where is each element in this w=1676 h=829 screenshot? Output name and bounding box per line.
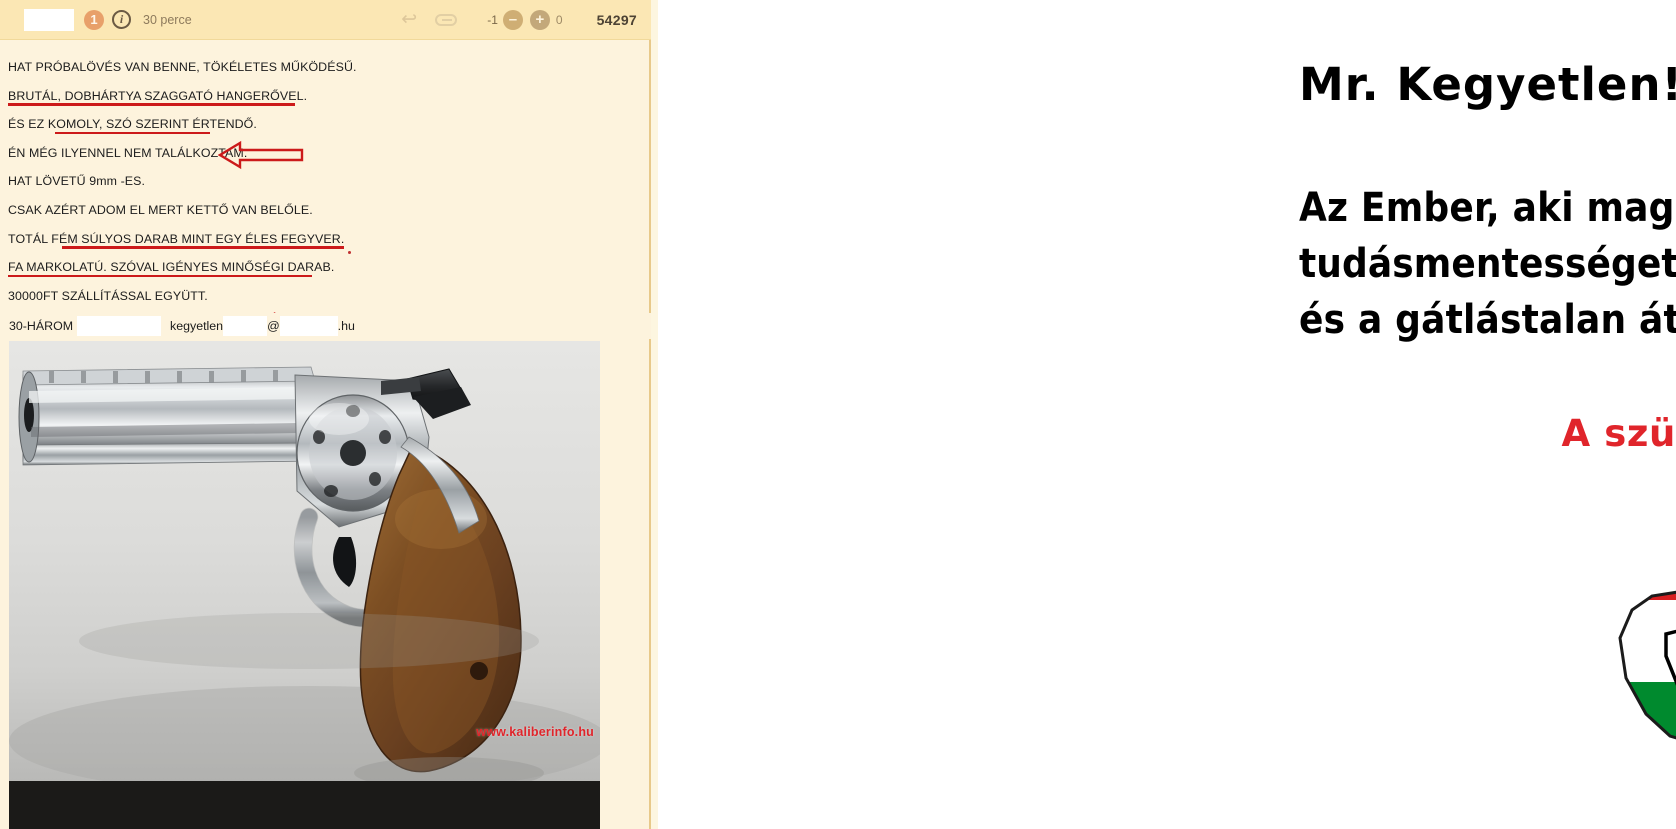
ad-line: HAT LÖVETŰ 9mm -ES. <box>8 174 649 203</box>
meme-body: Az Ember, aki magában ötvözi a totális t… <box>1299 180 1676 348</box>
photo-watermark: www.kaliberinfo.hu <box>476 725 594 739</box>
ad-line: BRUTÁL, DOBHÁRTYA SZAGGATÓ HANGERŐVEL. <box>8 89 649 118</box>
ad-line-text: FA MARKOLATÚ. SZÓVAL IGÉNYES MINŐSÉGI DA… <box>8 260 334 274</box>
phone-prefix: 30-HÁROM <box>0 319 73 333</box>
vote-down-button[interactable]: – <box>503 10 523 30</box>
redacted-phone-box <box>77 316 161 336</box>
hungary-map-ballot-svg <box>1548 488 1676 778</box>
ad-line-text: 30000FT SZÁLLÍTÁSSAL EGYÜTT. <box>8 289 208 303</box>
email-local-part: kegyetlen <box>161 319 223 333</box>
ad-text-body: HAT PRÓBALÖVÉS VAN BENNE, TÖKÉLETES MŰKÖ… <box>0 40 649 330</box>
meme-title: Mr. Kegyetlen!!! <box>1299 58 1676 111</box>
ad-card: 1 i 30 perce ↩ -1 – + 0 54297 HAT PRÓBAL… <box>0 0 651 829</box>
meme-body-line-2: tudásmentességet a zseniális marketinges… <box>1299 236 1676 292</box>
contact-row: 30-HÁROM kegyetlen @ .hu <box>0 313 651 339</box>
ad-line-text: HAT LÖVETŰ 9mm -ES. <box>8 174 145 188</box>
ad-line: HAT PRÓBALÖVÉS VAN BENNE, TÖKÉLETES MŰKÖ… <box>8 60 649 89</box>
at-symbol: @ <box>267 319 280 333</box>
meme-body-line-1: Az Ember, aki magában ötvözi a totális <box>1299 180 1676 236</box>
ad-line: CSAK AZÉRT ADOM EL MERT KETTŐ VAN BELŐLE… <box>8 203 649 232</box>
hungary-map-ballot-logo <box>1548 488 1676 778</box>
ad-line: FA MARKOLATÚ. SZÓVAL IGÉNYES MINŐSÉGI DA… <box>8 260 649 289</box>
ad-line-text: ÉN MÉG ILYENNEL NEM TALÁLKOZTAM. <box>8 146 247 160</box>
link-icon[interactable] <box>435 14 457 26</box>
photo-bottom-strip <box>9 781 600 829</box>
vote-down-count: -1 <box>487 13 498 27</box>
page-root: 1 i 30 perce ↩ -1 – + 0 54297 HAT PRÓBAL… <box>0 0 1676 829</box>
ad-line-text: HAT PRÓBALÖVÉS VAN BENNE, TÖKÉLETES MŰKÖ… <box>8 60 357 74</box>
red-dot-mark <box>348 251 351 254</box>
meme-panel: Mr. Kegyetlen!!! Az Ember, aki magában ö… <box>658 0 1676 829</box>
revolver-photo-svg <box>9 341 600 781</box>
vote-up-count: 0 <box>556 13 563 27</box>
revolver-photo: www.kaliberinfo.hu <box>9 341 600 781</box>
email-tld: .hu <box>338 319 355 333</box>
ad-line-text: ÉS EZ KOMOLY, SZÓ SZERINT ÉRTENDŐ. <box>8 117 257 131</box>
ad-toolbar: 1 i 30 perce ↩ -1 – + 0 54297 <box>0 0 651 40</box>
vote-up-button[interactable]: + <box>530 10 550 30</box>
ad-line: TOTÁL FÉM SÚLYOS DARAB MINT EGY ÉLES FEG… <box>8 232 649 261</box>
meme-red-caption: A született POLITIKUS! <box>1299 412 1676 455</box>
ad-line-text: CSAK AZÉRT ADOM EL MERT KETTŐ VAN BELŐLE… <box>8 203 313 217</box>
timestamp-label: 30 perce <box>143 13 192 27</box>
ad-line-text: BRUTÁL, DOBHÁRTYA SZAGGATÓ HANGERŐVEL. <box>8 89 307 103</box>
annotation-arrow-1 <box>218 140 304 170</box>
ad-line: ÉN MÉG ILYENNEL NEM TALÁLKOZTAM. <box>8 146 649 175</box>
badge-count: 1 <box>84 10 104 30</box>
view-count: 54297 <box>597 12 637 28</box>
redacted-local-box <box>223 316 267 336</box>
undo-arrow-icon[interactable]: ↩ <box>401 10 417 29</box>
ad-line: ÉS EZ KOMOLY, SZÓ SZERINT ÉRTENDŐ. <box>8 117 649 146</box>
info-icon[interactable]: i <box>112 10 131 29</box>
redacted-domain-box <box>280 316 338 336</box>
ad-line-text: TOTÁL FÉM SÚLYOS DARAB MINT EGY ÉLES FEG… <box>8 232 344 246</box>
redacted-avatar-box <box>24 9 74 31</box>
classified-ad-panel: 1 i 30 perce ↩ -1 – + 0 54297 HAT PRÓBAL… <box>0 0 658 829</box>
meme-body-line-3: és a gátlástalan átverésre való hajlamma… <box>1299 292 1676 348</box>
